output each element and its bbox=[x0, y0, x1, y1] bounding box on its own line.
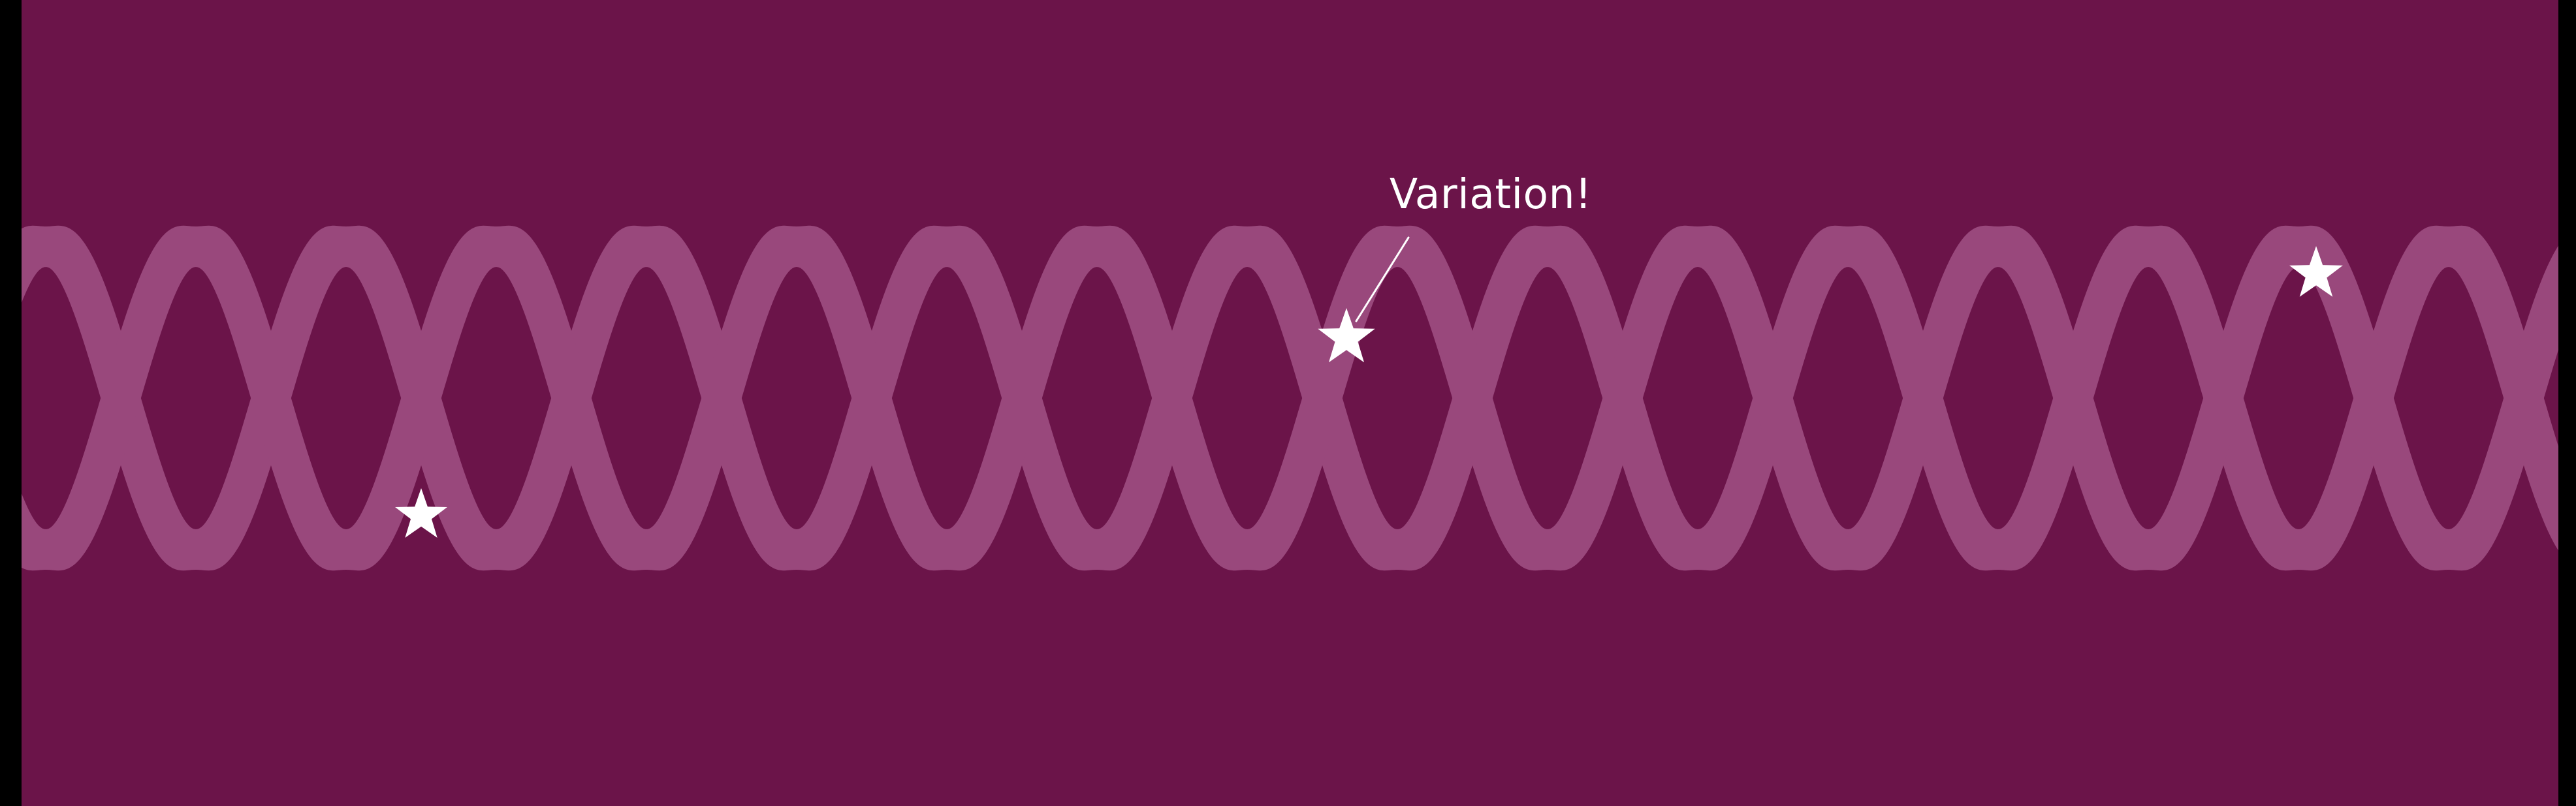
illustration-canvas: Variation! bbox=[0, 0, 2576, 806]
variation-annotation-label: Variation! bbox=[1390, 174, 1592, 215]
right-border-band bbox=[2558, 0, 2576, 806]
left-border-band bbox=[0, 0, 22, 806]
dna-helix-svg bbox=[0, 0, 2576, 806]
